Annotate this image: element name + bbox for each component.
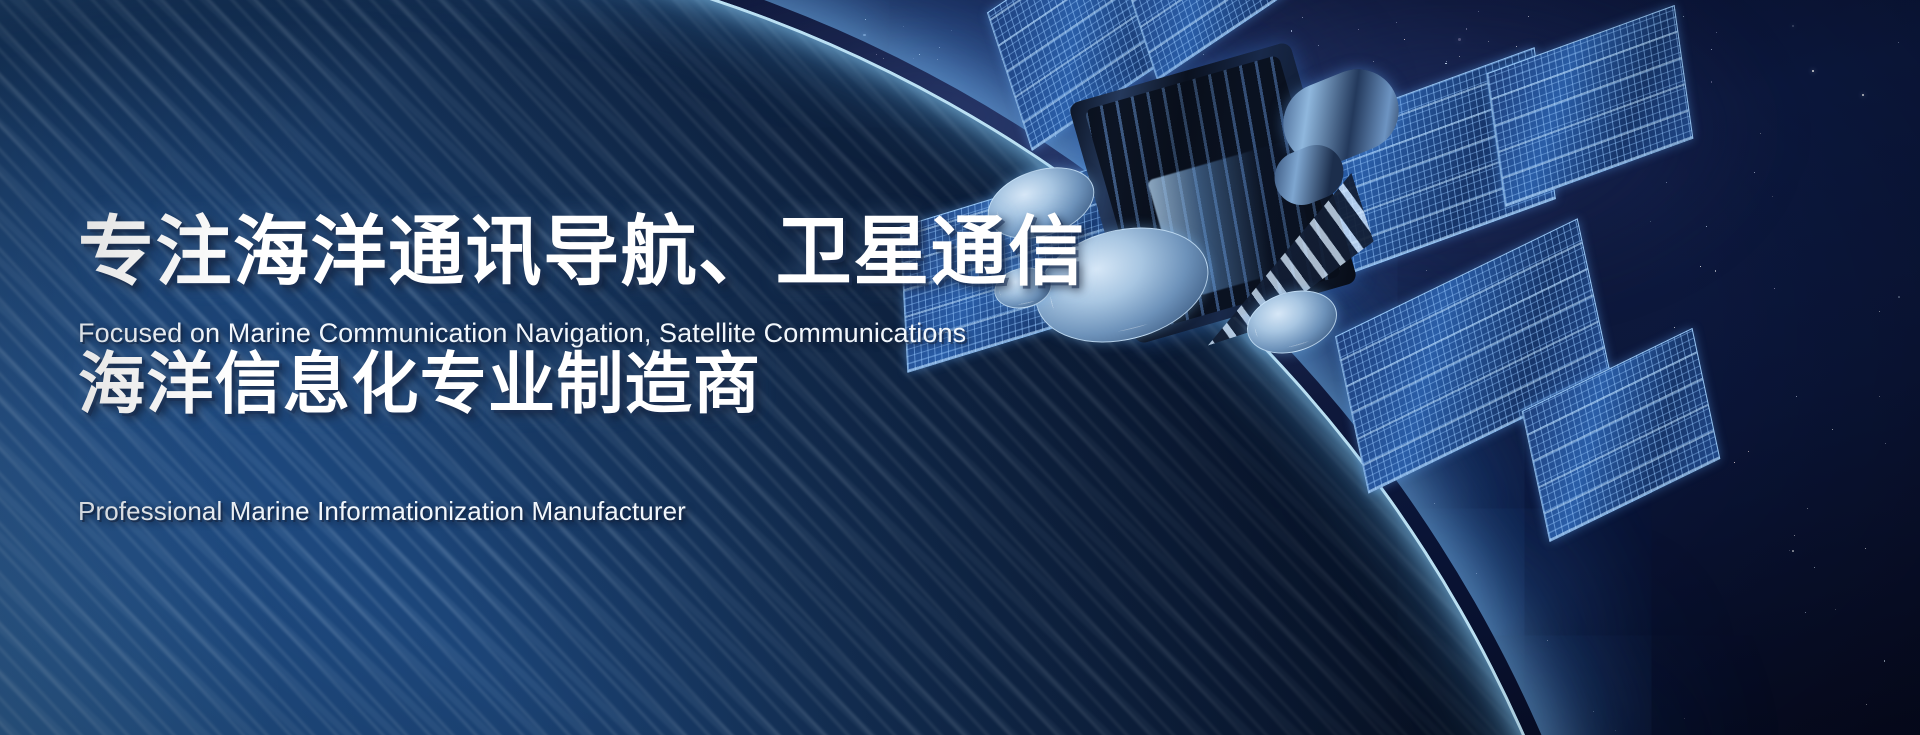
headline-secondary-cn: 海洋信息化专业制造商 [78,330,761,427]
headline-secondary-en: Professional Marine Informationization M… [78,496,686,527]
headline-group: 专注海洋通讯导航、卫星通信 Focused on Marine Communic… [78,0,1078,735]
headline-primary-cn: 专注海洋通讯导航、卫星通信 [78,190,1086,300]
hero-banner: 专注海洋通讯导航、卫星通信 Focused on Marine Communic… [0,0,1920,735]
